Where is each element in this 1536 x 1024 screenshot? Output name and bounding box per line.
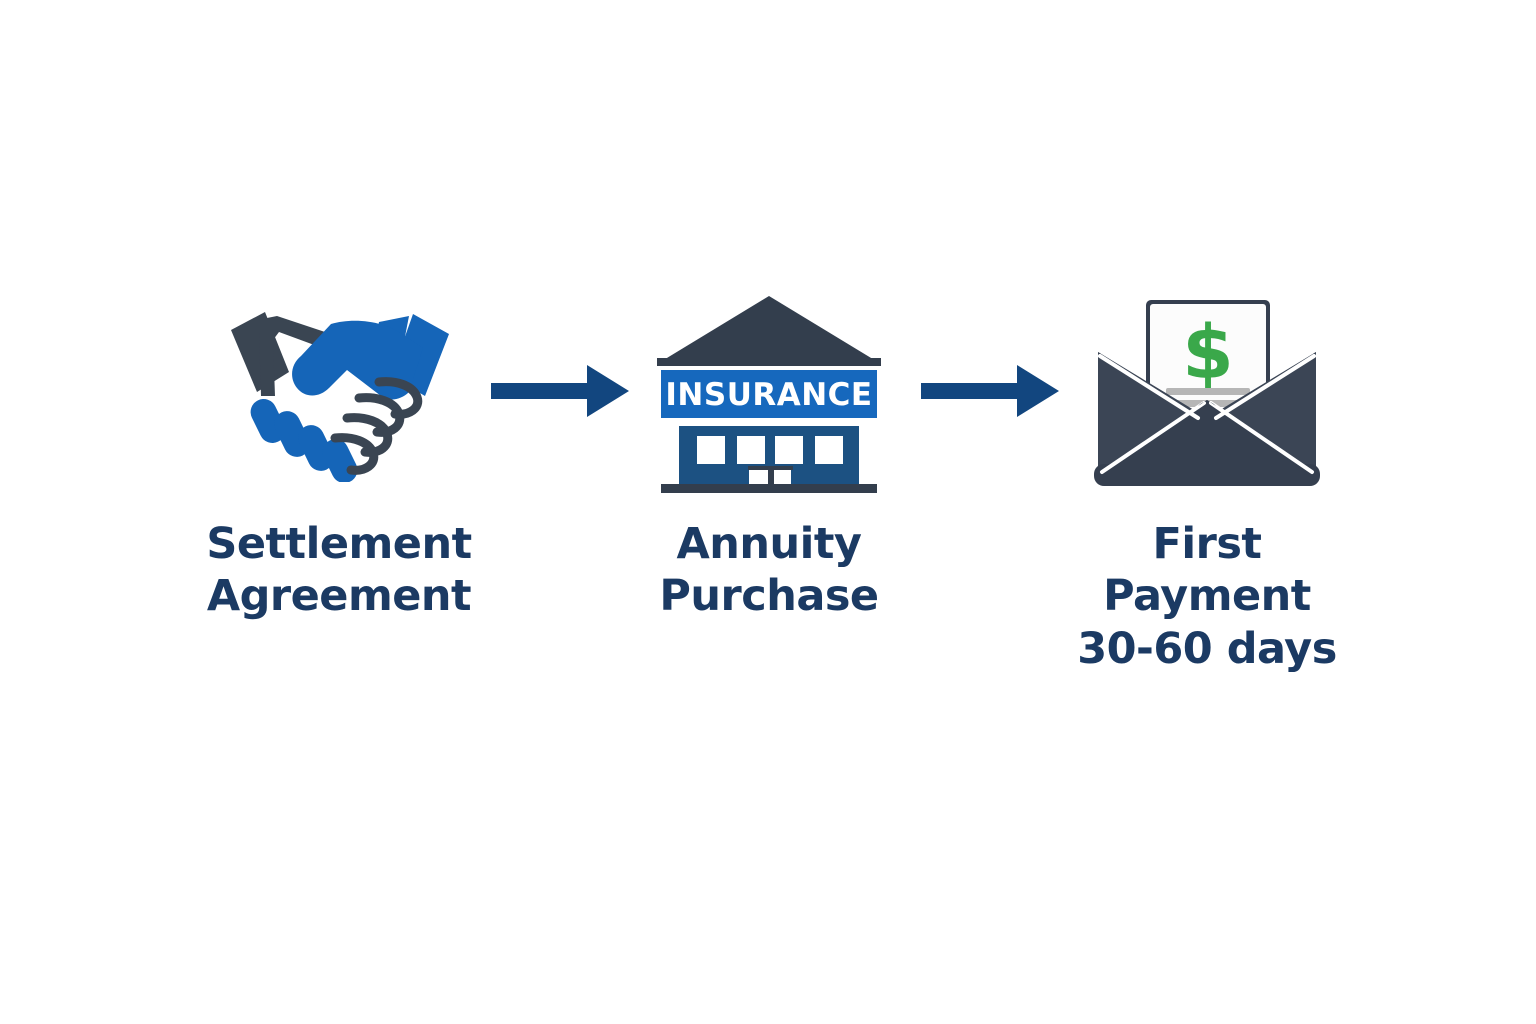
arrow-right-icon: [491, 363, 631, 419]
connector-2: [901, 286, 1081, 496]
diagram-canvas: Settlement Agreement INSURANCE: [0, 0, 1536, 1024]
handshake-icon-box: [189, 286, 489, 496]
envelope-check-icon: $: [1094, 296, 1320, 486]
step-settlement-agreement[interactable]: Settlement Agreement: [189, 286, 489, 623]
dollar-sign-glyph: $: [1182, 310, 1234, 396]
step-annuity-purchase[interactable]: INSURANCE: [619, 286, 919, 623]
insurance-sign-text: INSURANCE: [665, 377, 872, 413]
insurance-building-icon: INSURANCE: [645, 288, 893, 494]
step-label-first-payment: First Payment 30-60 days: [1057, 518, 1357, 675]
step-label-settlement-agreement: Settlement Agreement: [206, 518, 471, 623]
step-label-annuity-purchase: Annuity Purchase: [619, 518, 919, 623]
envelope-check-icon-box: $: [1057, 286, 1357, 496]
process-flow: Settlement Agreement INSURANCE: [0, 286, 1536, 666]
handshake-icon: [213, 300, 465, 482]
step-first-payment[interactable]: $: [1057, 286, 1357, 675]
arrow-right-icon: [921, 363, 1061, 419]
insurance-building-icon-box: INSURANCE: [619, 286, 919, 496]
